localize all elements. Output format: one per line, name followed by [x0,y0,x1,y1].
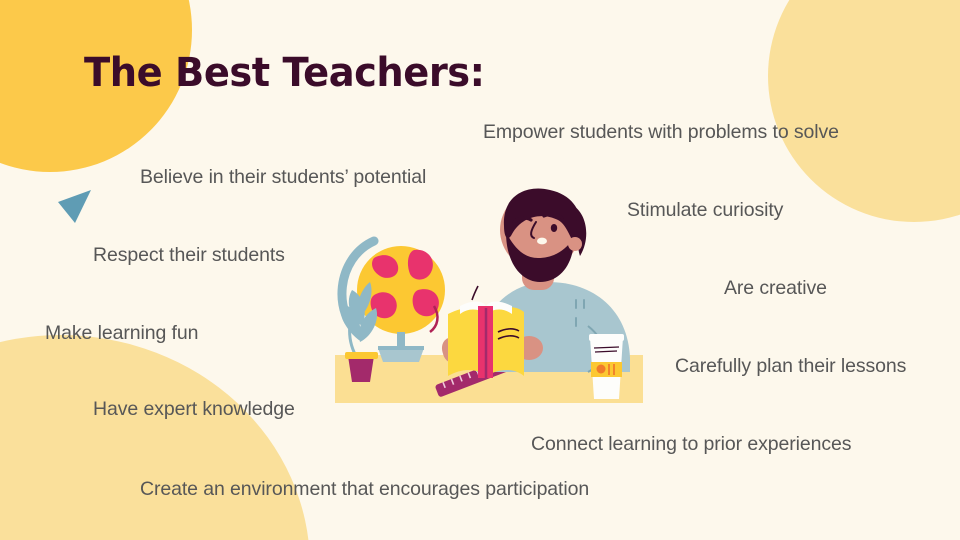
phrase-item: Create an environment that encourages pa… [140,478,589,501]
coffee-cup [589,334,624,399]
phrase-item: Make learning fun [45,322,198,345]
phrase-item: Have expert knowledge [93,398,295,421]
phrase-item: Empower students with problems to solve [483,121,839,144]
page-title: The Best Teachers: [84,50,485,96]
cursor-triangle-icon [55,186,97,233]
phrase-item: Stimulate curiosity [627,199,783,222]
phrase-item: Respect their students [93,244,285,267]
slide-canvas: The Best Teachers: [0,0,960,540]
decor-circle-top-right [768,0,960,222]
phrase-item: Are creative [724,277,827,300]
phrase-item: Carefully plan their lessons [675,355,906,378]
phrase-item: Connect learning to prior experiences [531,433,851,456]
phrase-item: Believe in their students’ potential [140,166,426,189]
teacher-illustration [326,186,656,411]
